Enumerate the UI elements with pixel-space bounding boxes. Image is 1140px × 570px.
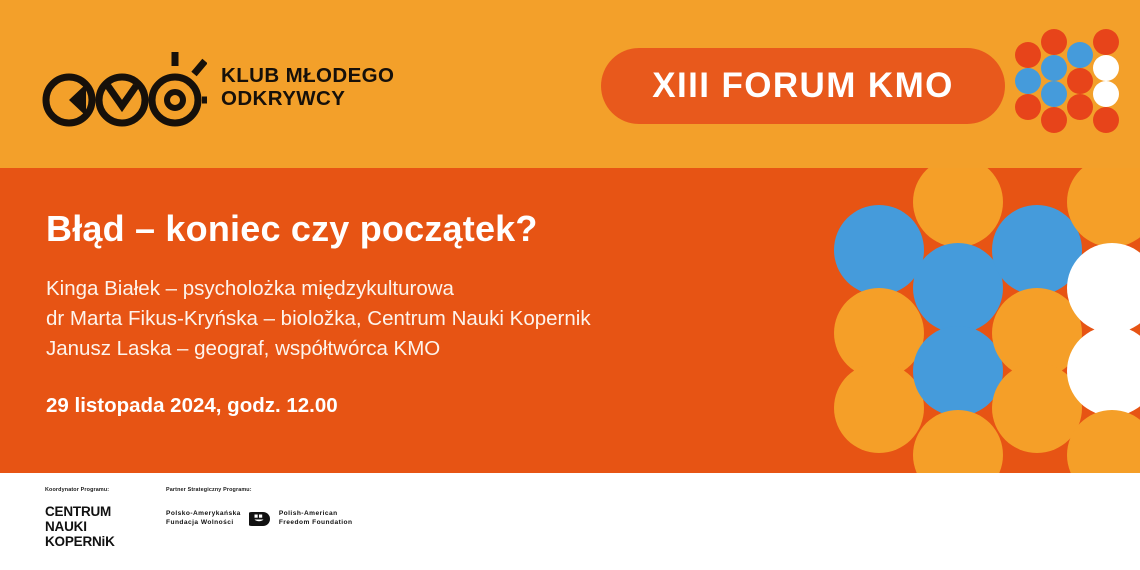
decorative-dot: [1093, 29, 1119, 55]
decorative-dot: [1093, 55, 1119, 81]
kmo-logo-line-1: KLUB MŁODEGO: [221, 65, 394, 88]
pafw-text-english: Polish-American Freedom Foundation: [279, 510, 353, 528]
forum-badge[interactable]: XIII FORUM KMO: [601, 48, 1005, 124]
decorative-dot: [913, 410, 1003, 473]
decorative-dot: [1015, 42, 1041, 68]
decorative-dot: [834, 363, 924, 453]
decorative-dot: [1067, 68, 1093, 94]
cnk-logo-line-3: KOPERNiK: [45, 534, 115, 549]
decorative-dot: [1067, 42, 1093, 68]
kmo-logo-marks: [42, 48, 207, 128]
decorative-dot: [1015, 68, 1041, 94]
page-title: Błąd – koniec czy początek?: [46, 208, 806, 250]
pafw-emblem-icon: [249, 509, 271, 529]
decorative-dot: [1093, 107, 1119, 133]
pafw-english-line-2: Freedom Foundation: [279, 519, 353, 528]
decorative-dot: [913, 168, 1003, 247]
pafw-polish-line-2: Fundacja Wolności: [166, 519, 241, 528]
partner-caption: Partner Strategiczny Programu:: [166, 487, 352, 493]
kmo-logo-line-2: ODKRYWCY: [221, 88, 394, 111]
header-band: KLUB MŁODEGO ODKRYWCY XIII FORUM KMO: [0, 0, 1140, 168]
decorative-dot: [1067, 94, 1093, 120]
cnk-logo-line-1: CENTRUM: [45, 504, 115, 519]
footer-band: Koordynator Programu: CENTRUM NAUKI KOPE…: [0, 473, 1140, 570]
k-circle-icon: [46, 77, 92, 123]
kmo-logo[interactable]: KLUB MŁODEGO ODKRYWCY: [42, 48, 394, 128]
pafw-polish-line-1: Polsko-Amerykańska: [166, 510, 241, 519]
cnk-logo-line-2: NAUKI: [45, 519, 115, 534]
pafw-logo[interactable]: Polsko-Amerykańska Fundacja Wolności Pol…: [166, 509, 352, 529]
decorative-dot: [1041, 81, 1067, 107]
decorative-dot: [834, 205, 924, 295]
decorative-dot: [1015, 94, 1041, 120]
event-details: Błąd – koniec czy początek? Kinga Białek…: [46, 208, 806, 418]
main-band: Błąd – koniec czy początek? Kinga Białek…: [0, 168, 1140, 473]
forum-badge-label: XIII FORUM KMO: [652, 66, 954, 106]
decorative-dot: [913, 326, 1003, 416]
pafw-english-line-1: Polish-American: [279, 510, 353, 519]
decorative-dot: [1041, 29, 1067, 55]
decorative-dot: [1041, 107, 1067, 133]
speaker-list: Kinga Białek – psycholożka międzykulturo…: [46, 274, 806, 364]
decorative-dot: [1093, 81, 1119, 107]
event-banner: KLUB MŁODEGO ODKRYWCY XIII FORUM KMO Błą…: [0, 0, 1140, 570]
coordinator-caption: Koordynator Programu:: [45, 487, 115, 493]
partner-block: Partner Strategiczny Programu: Polsko-Am…: [166, 487, 352, 529]
pafw-text-polish: Polsko-Amerykańska Fundacja Wolności: [166, 510, 241, 528]
cnk-logo[interactable]: CENTRUM NAUKI KOPERNiK: [45, 504, 115, 549]
list-item: dr Marta Fikus-Kryńska – bioložka, Centr…: [46, 304, 806, 334]
coordinator-block: Koordynator Programu: CENTRUM NAUKI KOPE…: [45, 487, 115, 549]
list-item: Kinga Białek – psycholożka międzykulturo…: [46, 274, 806, 304]
decorative-dot: [1041, 55, 1067, 81]
decorative-dot: [913, 243, 1003, 333]
o-circle-rays-icon: [152, 52, 207, 123]
kmo-logo-wordmark: KLUB MŁODEGO ODKRYWCY: [221, 65, 394, 111]
m-circle-icon: [99, 77, 145, 123]
event-date: 29 listopada 2024, godz. 12.00: [46, 394, 806, 418]
list-item: Janusz Laska – geograf, współtwórca KMO: [46, 334, 806, 364]
